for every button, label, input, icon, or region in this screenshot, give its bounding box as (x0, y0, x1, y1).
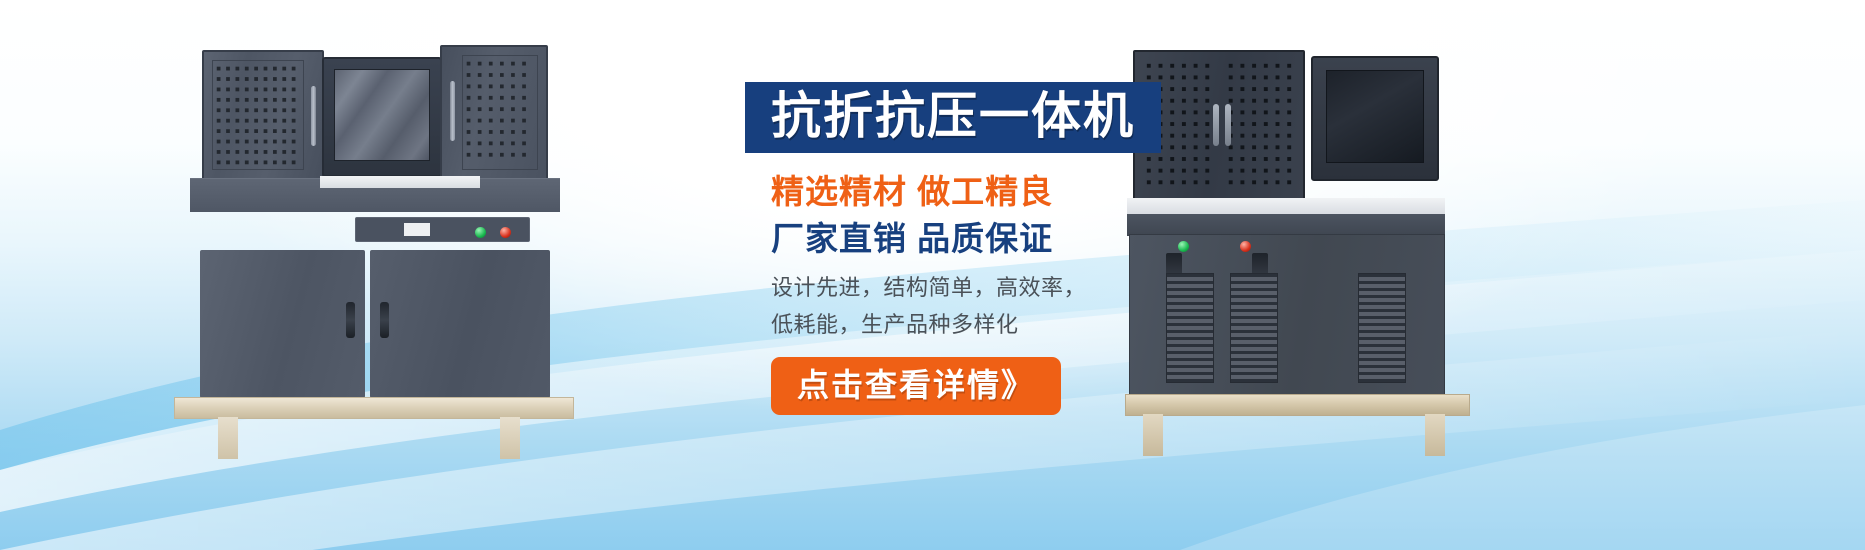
right-machine-vent-right (1358, 273, 1406, 383)
left-machine-green-indicator (475, 227, 486, 238)
subtitle-blue: 厂家直销 品质保证 (771, 218, 1285, 259)
left-machine-perforated-door-right (440, 45, 548, 180)
cta-button-label: 点击查看详情》 (797, 367, 1035, 403)
perforation-grid (212, 60, 304, 170)
promo-banner: 抗折抗压一体机 精选精材 做工精良 厂家直销 品质保证 设计先进，结构简单，高效… (0, 0, 1865, 550)
page-title: 抗折抗压一体机 (771, 91, 1135, 142)
left-machine-cabinet-door-right (370, 250, 550, 398)
left-machine-cabinet-door-left (200, 250, 365, 398)
headline-bar: 抗折抗压一体机 (745, 82, 1161, 153)
left-machine-pallet (174, 397, 574, 419)
left-machine-red-indicator (500, 227, 511, 238)
cabinet-handle (346, 302, 355, 338)
cabinet-handle (380, 302, 389, 338)
subtitle-orange: 精选精材 做工精良 (771, 171, 1285, 212)
right-machine-screen (1326, 70, 1424, 163)
pallet-foot (1425, 414, 1445, 456)
pallet-foot (1143, 414, 1163, 456)
left-machine-perforated-door-left (202, 50, 324, 180)
cta-button[interactable]: 点击查看详情》 (771, 357, 1061, 415)
banner-copy: 抗折抗压一体机 精选精材 做工精良 厂家直销 品质保证 设计先进，结构简单，高效… (745, 82, 1285, 415)
left-machine-monitor (322, 57, 442, 177)
right-machine-monitor (1311, 56, 1439, 181)
left-machine-white-strip (320, 176, 480, 188)
description-line-2: 低耗能，生产品种多样化 (771, 307, 1285, 343)
product-photo-left (170, 45, 570, 430)
description-line-1: 设计先进，结构简单，高效率， (771, 270, 1285, 306)
perforation-grid-right (462, 55, 538, 170)
pallet-foot (218, 417, 238, 459)
pallet-foot (500, 417, 520, 459)
left-machine-screen (334, 69, 430, 161)
